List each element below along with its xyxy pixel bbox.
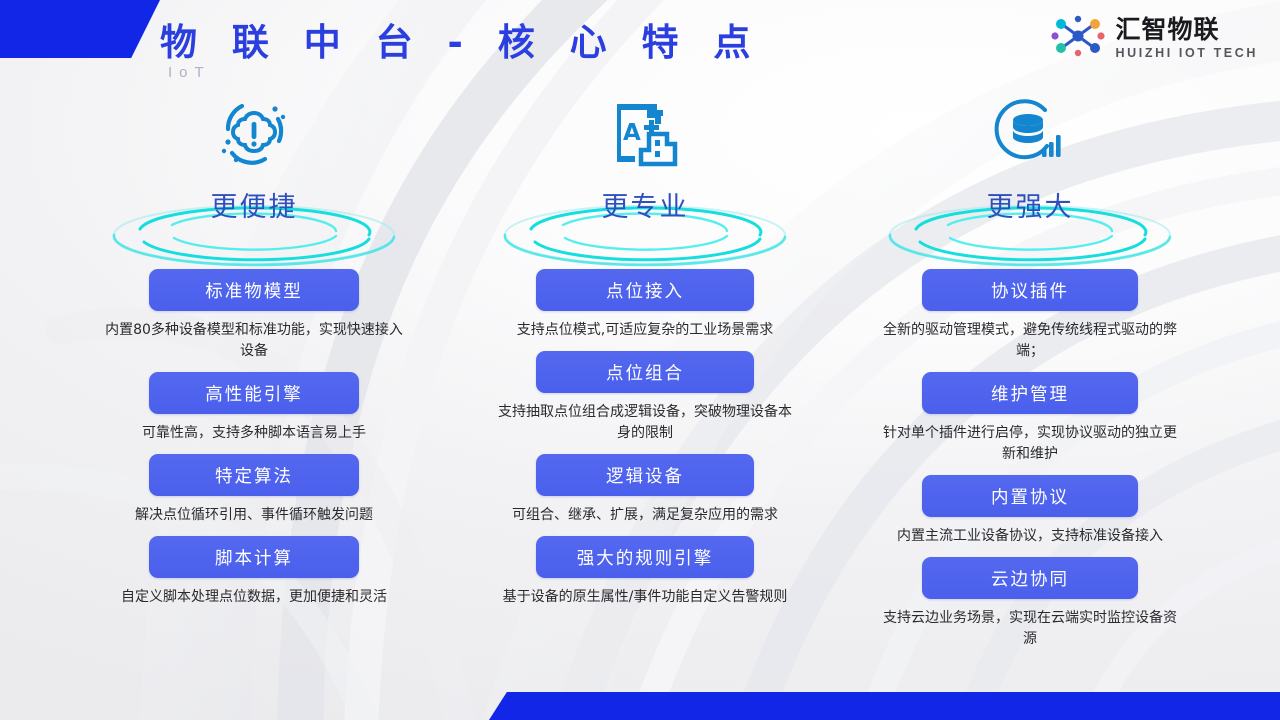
column-heading-area-1: 更专业 xyxy=(455,173,835,269)
feature-description: 解决点位循环引用、事件循环触发问题 xyxy=(104,505,404,526)
document-a-plus-building-icon: A xyxy=(455,95,835,173)
feature-item: 强大的规则引擎 基于设备的原生属性/事件功能自定义告警规则 xyxy=(455,536,835,608)
feature-description: 全新的驱动管理模式，避免传统线程式驱动的弊端； xyxy=(880,320,1180,362)
feature-item: 维护管理 针对单个插件进行启停，实现协议驱动的独立更新和维护 xyxy=(840,372,1220,465)
header-corner-accent xyxy=(0,0,160,58)
column-heading-2: 更强大 xyxy=(840,185,1220,224)
feature-item: 标准物模型 内置80多种设备模型和标准功能，实现快速接入设备 xyxy=(64,269,444,362)
page-title: 物 联 中 台 - 核 心 特 点 xyxy=(160,12,761,66)
page-header: 物 联 中 台 - 核 心 特 点 IoT 汇智物联 HUIZH xyxy=(0,0,1280,92)
brand-logo-text: 汇智物联 HUIZHI IOT TECH xyxy=(1116,17,1258,60)
feature-description: 可靠性高，支持多种脚本语言易上手 xyxy=(104,423,404,444)
feature-description: 基于设备的原生属性/事件功能自定义告警规则 xyxy=(495,587,795,608)
feature-label[interactable]: 云边协同 xyxy=(922,557,1138,599)
feature-label[interactable]: 特定算法 xyxy=(149,454,359,496)
feature-label[interactable]: 标准物模型 xyxy=(149,269,359,311)
feature-item: 特定算法 解决点位循环引用、事件循环触发问题 xyxy=(64,454,444,526)
feature-label[interactable]: 逻辑设备 xyxy=(536,454,754,496)
column-heading-area-2: 更强大 xyxy=(840,173,1220,269)
column-heading-1: 更专业 xyxy=(455,185,835,224)
feature-item: 点位接入 支持点位模式,可适应复杂的工业场景需求 xyxy=(455,269,835,341)
feature-label[interactable]: 协议插件 xyxy=(922,269,1138,311)
brand-name-en: HUIZHI IOT TECH xyxy=(1116,47,1258,60)
feature-label[interactable]: 高性能引擎 xyxy=(149,372,359,414)
feature-item: 逻辑设备 可组合、继承、扩展，满足复杂应用的需求 xyxy=(455,454,835,526)
feature-column-2: 更强大 协议插件 全新的驱动管理模式，避免传统线程式驱动的弊端； 维护管理 针对… xyxy=(840,95,1220,660)
feature-label[interactable]: 脚本计算 xyxy=(149,536,359,578)
feature-item: 点位组合 支持抽取点位组合成逻辑设备，突破物理设备本身的限制 xyxy=(455,351,835,444)
brand-logo: 汇智物联 HUIZHI IOT TECH xyxy=(1049,14,1258,63)
page-subtitle: IoT xyxy=(168,64,211,81)
feature-item: 脚本计算 自定义脚本处理点位数据，更加便捷和灵活 xyxy=(64,536,444,608)
feature-item: 内置协议 内置主流工业设备协议，支持标准设备接入 xyxy=(840,475,1220,547)
feature-description: 内置主流工业设备协议，支持标准设备接入 xyxy=(880,526,1180,547)
feature-label[interactable]: 点位接入 xyxy=(536,269,754,311)
svg-text:A: A xyxy=(623,120,641,146)
column-heading-area-0: 更便捷 xyxy=(64,173,444,269)
column-heading-0: 更便捷 xyxy=(64,185,444,224)
feature-description: 自定义脚本处理点位数据，更加便捷和灵活 xyxy=(104,587,404,608)
feature-label[interactable]: 内置协议 xyxy=(922,475,1138,517)
feature-description: 内置80多种设备模型和标准功能，实现快速接入设备 xyxy=(104,320,404,362)
database-chart-icon xyxy=(840,95,1220,173)
feature-item: 高性能引擎 可靠性高，支持多种脚本语言易上手 xyxy=(64,372,444,444)
feature-label[interactable]: 强大的规则引擎 xyxy=(536,536,754,578)
brain-gear-icon xyxy=(64,95,444,173)
feature-column-0: 更便捷 标准物模型 内置80多种设备模型和标准功能，实现快速接入设备 高性能引擎… xyxy=(64,95,444,618)
feature-description: 支持抽取点位组合成逻辑设备，突破物理设备本身的限制 xyxy=(495,402,795,444)
feature-label[interactable]: 点位组合 xyxy=(536,351,754,393)
brand-name-cn: 汇智物联 xyxy=(1116,17,1258,42)
feature-description: 支持云边业务场景，实现在云端实时监控设备资源 xyxy=(880,608,1180,650)
molecule-network-icon xyxy=(1049,14,1107,63)
feature-description: 针对单个插件进行启停，实现协议驱动的独立更新和维护 xyxy=(880,423,1180,465)
feature-description: 可组合、继承、扩展，满足复杂应用的需求 xyxy=(495,505,795,526)
feature-item: 协议插件 全新的驱动管理模式，避免传统线程式驱动的弊端； xyxy=(840,269,1220,362)
feature-item: 云边协同 支持云边业务场景，实现在云端实时监控设备资源 xyxy=(840,557,1220,650)
feature-label[interactable]: 维护管理 xyxy=(922,372,1138,414)
feature-column-1: A 更专业 点位接入 支持点位模式,可适应复杂的工业场景需求 点位组合 支持抽取… xyxy=(455,95,835,618)
feature-description: 支持点位模式,可适应复杂的工业场景需求 xyxy=(495,320,795,341)
